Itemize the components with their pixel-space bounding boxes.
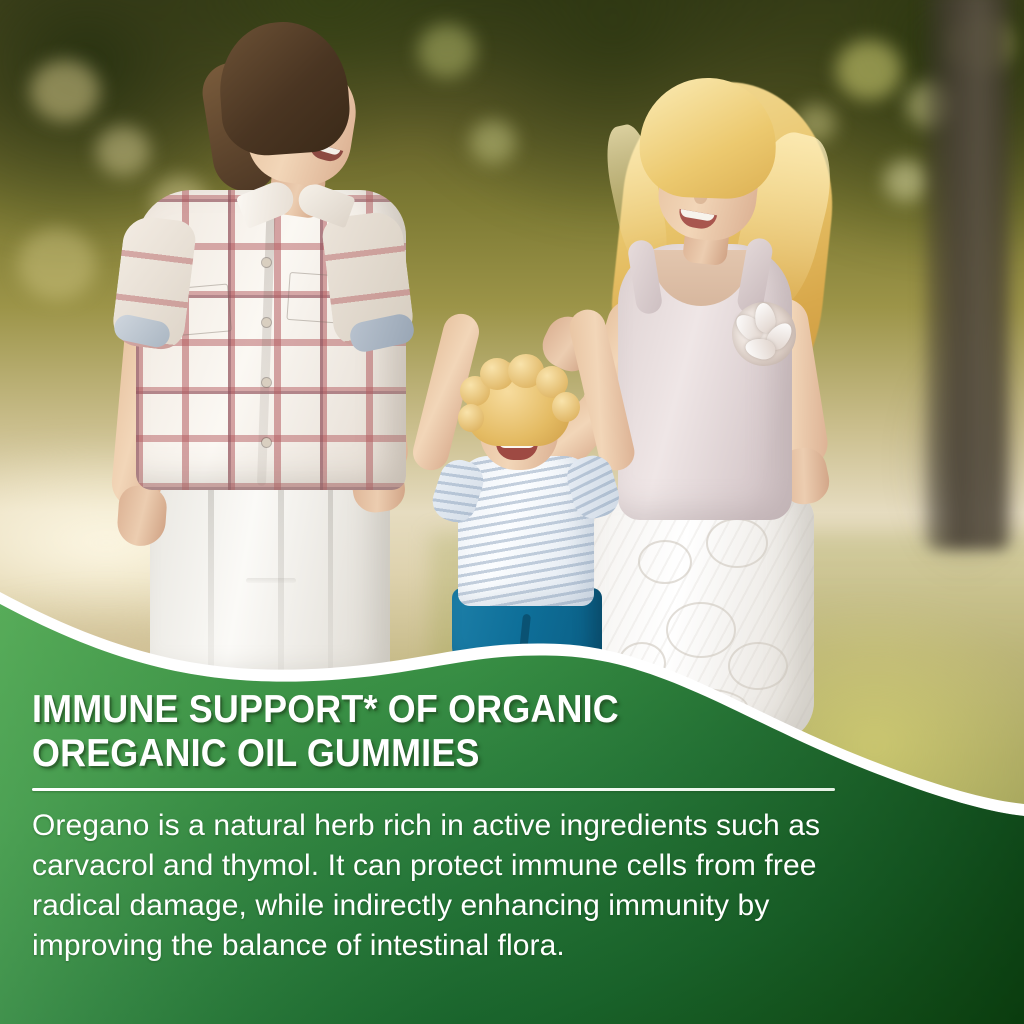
bokeh-dot	[418, 24, 476, 78]
father-hair	[216, 18, 353, 159]
bokeh-dot	[18, 228, 96, 300]
tree-trunk	[920, 0, 1016, 550]
bokeh-dot	[30, 60, 100, 122]
promo-poster: IMMUNE SUPPORT* OF ORGANIC OREGANIC OIL …	[0, 0, 1024, 1024]
headline-line-2: OREGANIC OIL GUMMIES	[32, 732, 750, 776]
bokeh-dot	[470, 120, 516, 164]
headline-line-1: IMMUNE SUPPORT* OF ORGANIC	[32, 688, 750, 732]
body-paragraph: Oregano is a natural herb rich in active…	[32, 806, 842, 966]
page-title: IMMUNE SUPPORT* OF ORGANIC OREGANIC OIL …	[32, 688, 750, 776]
